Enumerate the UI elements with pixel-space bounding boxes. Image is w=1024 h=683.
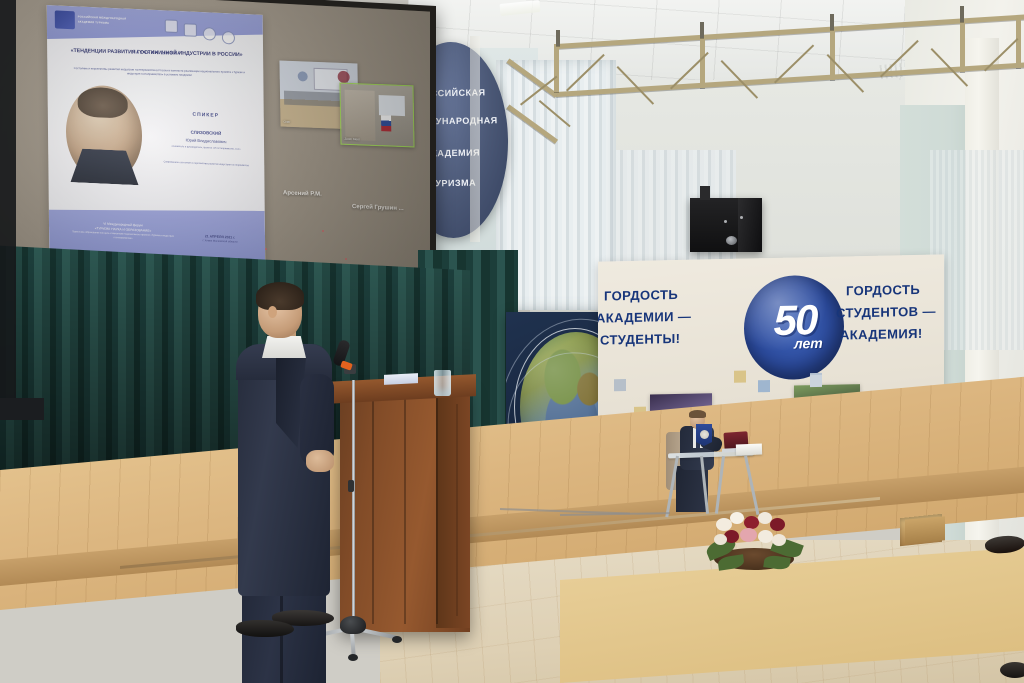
presenter-ear <box>268 306 277 318</box>
mic-foot-1 <box>392 636 402 643</box>
vc-flag-icon <box>381 115 391 131</box>
anniversary-word: лет <box>794 335 823 352</box>
left-equipment-shadow <box>0 398 44 420</box>
vc-avatar-icon <box>298 71 308 81</box>
podium-groove-3 <box>436 396 438 624</box>
banner-square-10 <box>810 375 822 387</box>
mic-stand-base <box>340 616 366 634</box>
flower-white-5 <box>772 534 786 546</box>
truss-hanger-2 <box>700 22 704 38</box>
partner-logo-3-icon <box>203 27 216 41</box>
truss-hanger-1 <box>556 30 560 46</box>
flower-red-2 <box>770 518 785 531</box>
banner-square-1 <box>614 379 626 391</box>
pa-speaker-mount <box>700 186 710 200</box>
vc-window <box>379 95 405 116</box>
slide-subtitle: Состояние и перспективы развития индустр… <box>69 66 249 79</box>
bystander-shoe-2 <box>1000 662 1024 678</box>
vc-logo-icon <box>338 71 350 83</box>
podium-groove-2 <box>404 398 406 624</box>
slide-speaker-position: основатель и руководитель, проекта «И го… <box>156 144 256 152</box>
left-dark-edge <box>0 0 16 420</box>
mic-stand-pole <box>352 380 355 630</box>
screen-speck-3 <box>345 258 347 260</box>
flower-white-2 <box>730 512 744 524</box>
banner-left-line-1: ГОРДОСТЬ <box>604 286 678 306</box>
banner-right-line-3: АКАДЕМИЯ! <box>840 325 923 346</box>
mic-foot-3 <box>348 654 358 661</box>
presentation-slide: РОССИЙСКАЯ МЕЖДУНАРОДНАЯ АКАДЕМИЯ ТУРИЗМ… <box>47 5 266 265</box>
banner-square-4 <box>758 380 770 392</box>
podium-groove-4 <box>456 404 458 616</box>
flower-white-4 <box>758 530 773 543</box>
partner-logo-2-icon <box>184 23 197 37</box>
pa-speaker-led <box>724 220 727 223</box>
pa-speaker-led-2 <box>740 216 743 219</box>
podium-groove-1 <box>372 400 374 624</box>
truss-hanger-4 <box>960 6 964 22</box>
presenter-hands <box>306 450 334 472</box>
presenter-collar <box>262 336 306 358</box>
partner-logo-1-icon <box>165 19 178 33</box>
truss-bar-9 <box>1016 16 1021 68</box>
vc-building <box>345 90 376 141</box>
pa-speaker-driver <box>726 236 737 245</box>
flower-pink-1 <box>740 528 757 542</box>
slide-speaker-label: СПИКЕР <box>160 110 252 120</box>
stage-step-block <box>905 516 945 543</box>
banner-right-line-1: ГОРДОСТЬ <box>846 281 920 301</box>
truss-bar-6 <box>700 36 705 88</box>
flower-white-6 <box>714 534 727 545</box>
banner-left-line-2: АКАДЕМИИ — <box>598 308 691 329</box>
partner-logo-4-icon <box>222 31 235 45</box>
truss-bar-7 <box>830 28 835 80</box>
vc-tile-active[interactable]: Zoom Meet <box>339 83 414 148</box>
presenter-shoe-left <box>236 620 294 637</box>
banner-left-line-3: СТУДЕНТЫ! <box>600 330 680 351</box>
mic-stand-adjuster[interactable] <box>348 480 354 492</box>
vertical-blinds-right <box>930 150 1024 350</box>
screen-speck-1 <box>322 230 324 232</box>
flower-red-1 <box>744 516 759 529</box>
water-glass <box>434 370 451 396</box>
screen-speck-2 <box>265 248 267 250</box>
podium-plaque <box>384 373 418 385</box>
slide-title: «ТЕНДЕНЦИИ РАЗВИТИЯ ГОСТИНИЧНОЙ ИНДУСТРИ… <box>59 48 254 61</box>
vc-tile-name-2: Zoom Meet <box>344 137 359 142</box>
seated-man-hair <box>689 410 706 418</box>
banner-square-3 <box>734 371 746 383</box>
academy-pennant-emblem-icon <box>700 430 709 439</box>
conference-hall-photo: РОССИЙСКАЯ МЕЖДУНАРОДНАЯ АКАДЕМИЯ ТУРИЗМ… <box>0 0 1024 683</box>
sign-right-pillar <box>470 36 480 242</box>
truss-bar-5 <box>554 44 559 92</box>
slide-speaker-topic: Современное состояние и перспективы разв… <box>152 160 260 169</box>
banner-right-line-2: СТУДЕНТОВ — <box>836 303 936 324</box>
truss-bar-8 <box>960 20 965 72</box>
rmat-logo-icon <box>55 10 75 29</box>
truss-hanger-3 <box>830 14 834 30</box>
name-placard <box>736 444 762 456</box>
presenter-hair <box>256 282 304 310</box>
podium-side-panel <box>436 390 470 628</box>
vc-tile-name-1: Олег <box>283 120 290 124</box>
